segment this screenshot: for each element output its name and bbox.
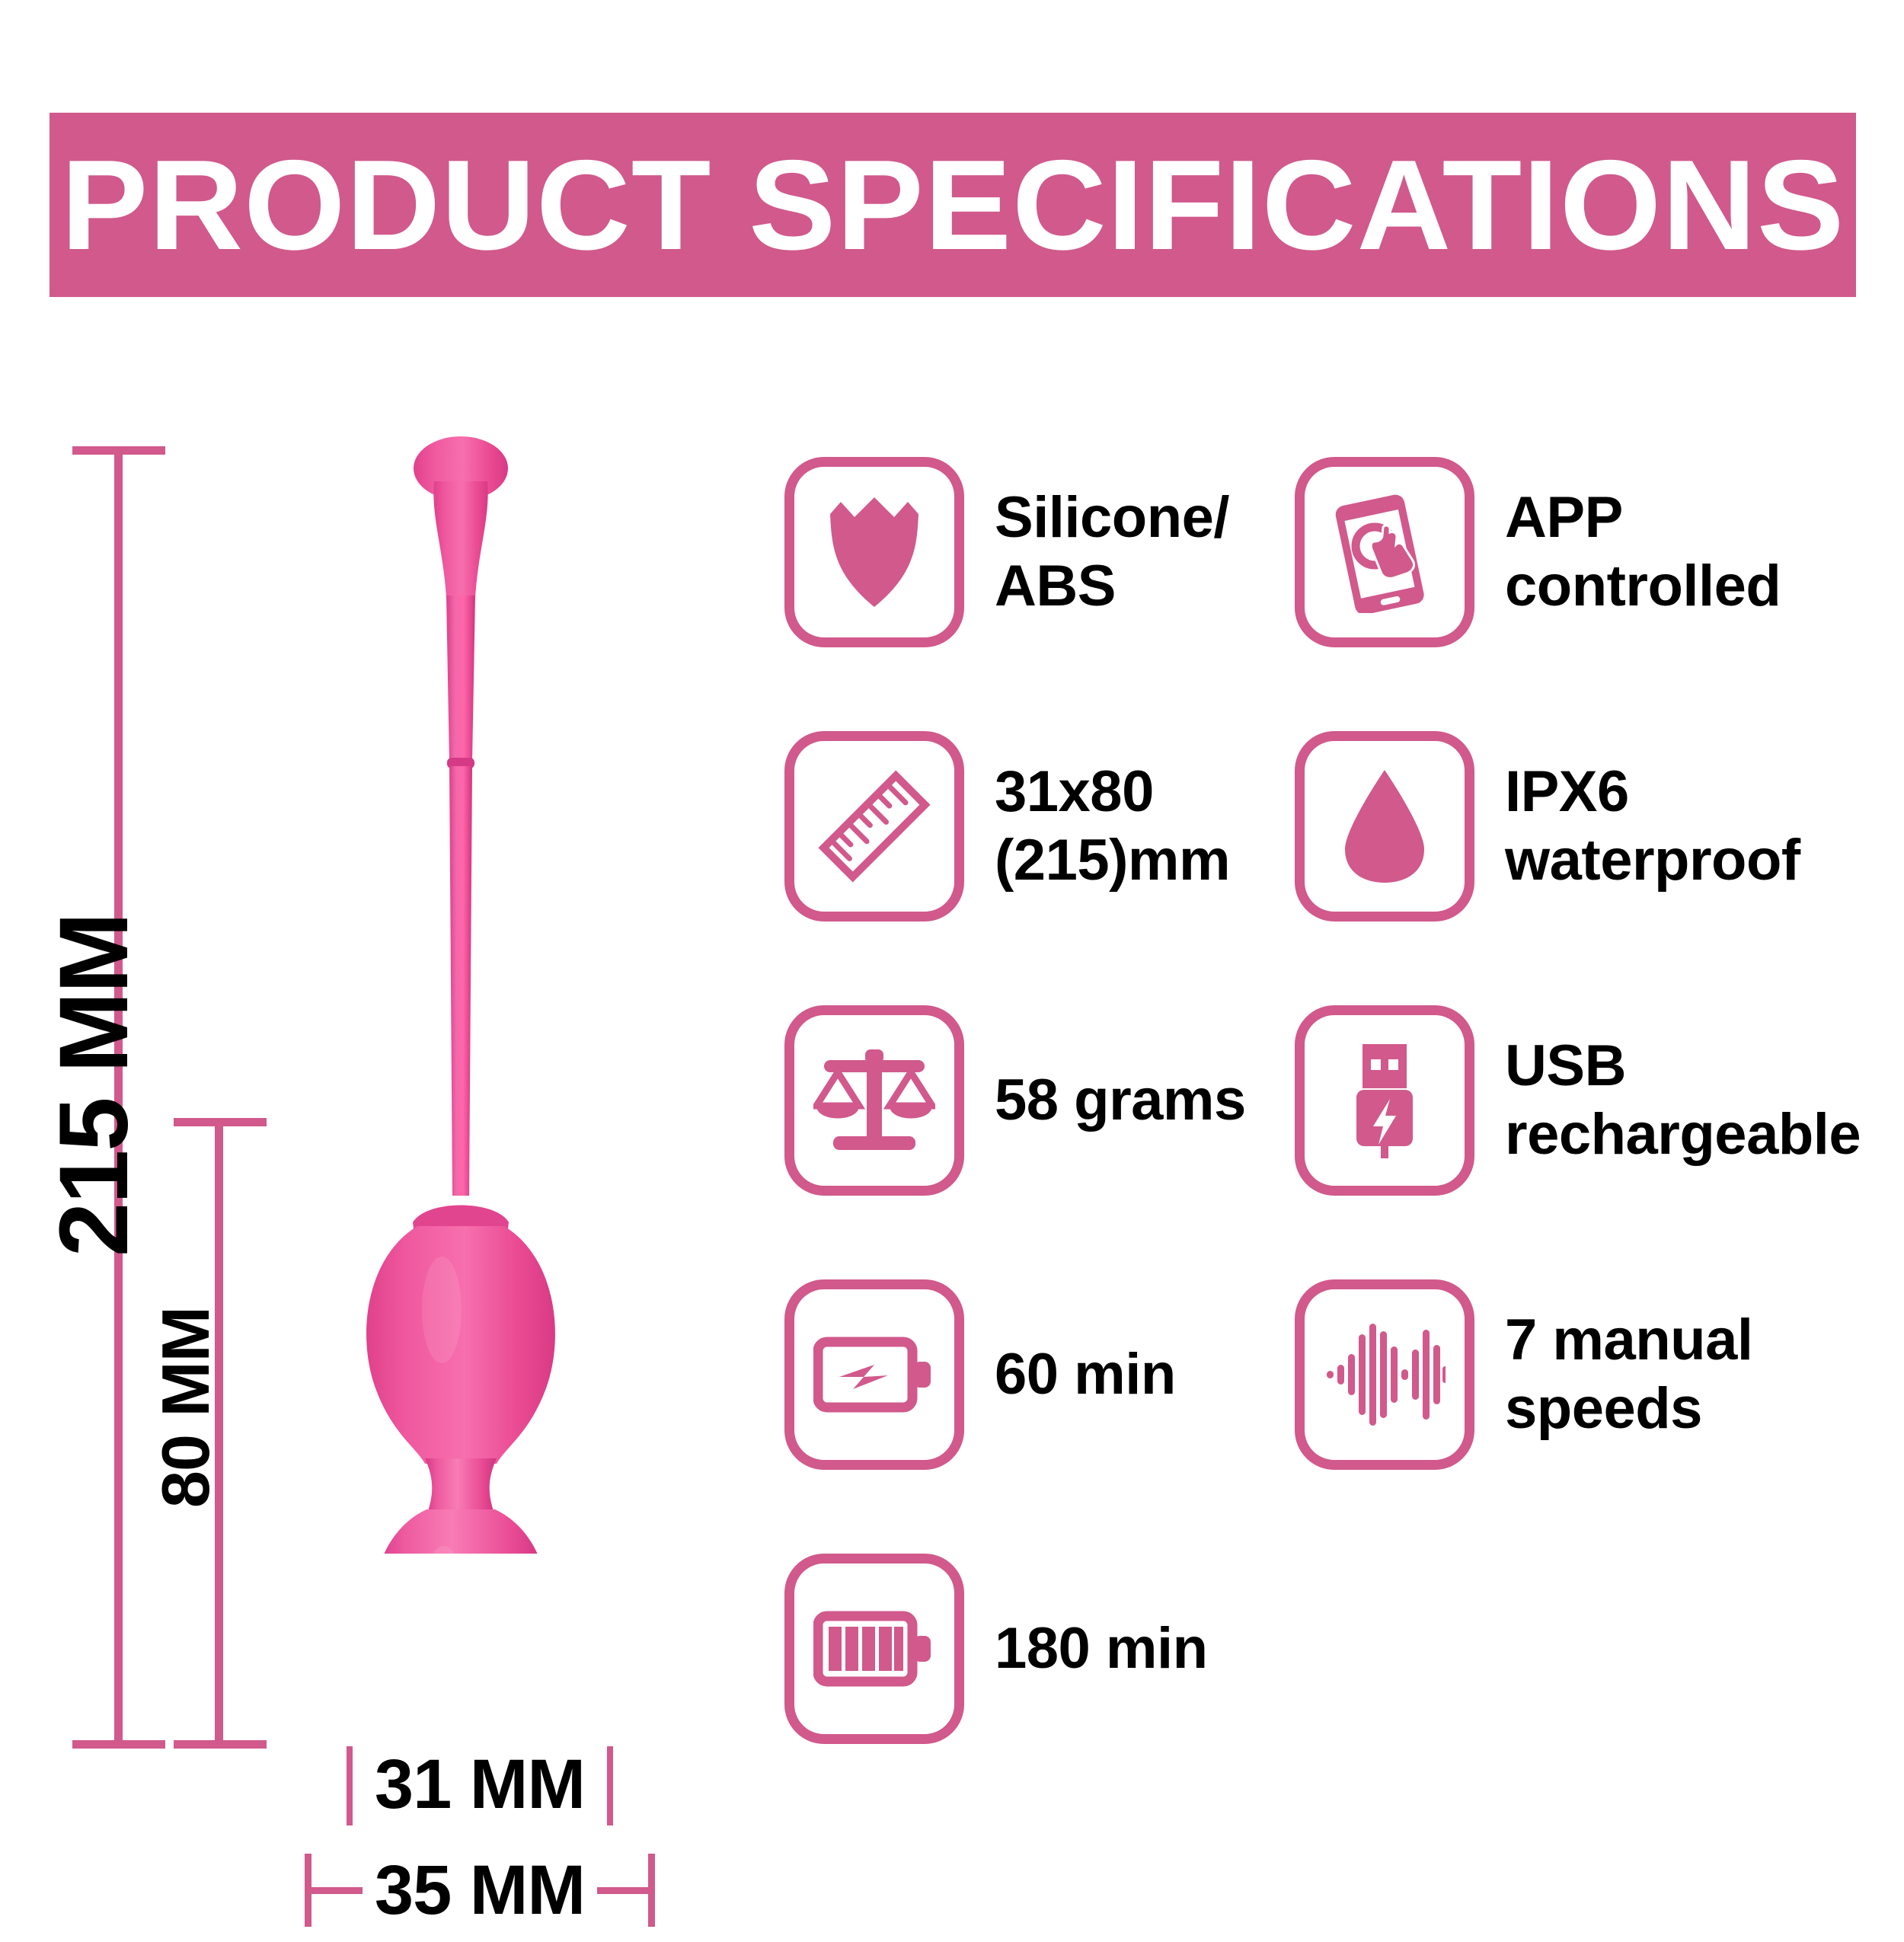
spec-grid: Silicone/ ABS bbox=[784, 457, 1904, 1828]
dimension-31-group: 31 MM bbox=[347, 1740, 613, 1830]
dimension-215-label: 215 MM bbox=[46, 914, 143, 1257]
spec-item-material: Silicone/ ABS bbox=[784, 457, 1287, 647]
dimension-35-label: 35 MM bbox=[305, 1855, 655, 1925]
spec-label-line1: 7 manual bbox=[1505, 1308, 1752, 1372]
smartphone-touch-icon bbox=[1295, 457, 1474, 647]
spec-label-line1: Silicone/ bbox=[995, 485, 1229, 550]
spec-label-size: 31x80 (215)mm bbox=[995, 758, 1230, 894]
spec-label-line1: USB bbox=[1505, 1033, 1626, 1098]
spec-item-runtime: 60 min bbox=[784, 1279, 1287, 1470]
spec-label-line1: 180 min bbox=[995, 1616, 1208, 1681]
spec-item-speeds: 7 manual speeds bbox=[1295, 1279, 1904, 1470]
infographic-canvas: PRODUCT SPECIFICATIONS 215 MM 80 MM 31 M… bbox=[0, 0, 1904, 1904]
spec-label-line2: rechargeable bbox=[1505, 1100, 1861, 1169]
spec-row: 180 min bbox=[784, 1554, 1904, 1828]
battery-full-icon bbox=[784, 1554, 964, 1744]
battery-charging-icon bbox=[784, 1279, 964, 1470]
spec-label-runtime: 60 min bbox=[995, 1340, 1176, 1409]
spec-label-app: APP controlled bbox=[1505, 484, 1781, 620]
usb-plug-icon bbox=[1295, 1005, 1474, 1196]
product-illustration bbox=[327, 434, 594, 1554]
water-drop-icon bbox=[1295, 731, 1474, 921]
ruler-icon bbox=[784, 731, 964, 921]
spec-item-charging: USB rechargeable bbox=[1295, 1005, 1904, 1196]
dimension-31-label: 31 MM bbox=[347, 1749, 613, 1819]
spec-item-charge-time: 180 min bbox=[784, 1554, 1287, 1744]
spec-row: 31x80 (215)mm IPX6 waterproof bbox=[784, 731, 1904, 1005]
sound-wave-icon bbox=[1295, 1279, 1474, 1470]
spec-label-line2: ABS bbox=[995, 552, 1229, 621]
balance-scale-icon bbox=[784, 1005, 964, 1196]
spec-item-weight: 58 grams bbox=[784, 1005, 1287, 1196]
spec-label-line1: 58 grams bbox=[995, 1068, 1246, 1132]
spec-row: 58 grams USB rechargeable bbox=[784, 1005, 1904, 1279]
shield-icon bbox=[784, 457, 964, 647]
spec-row: 60 min bbox=[784, 1279, 1904, 1554]
spec-label-line2: waterproof bbox=[1505, 826, 1800, 895]
spec-label-charging: USB rechargeable bbox=[1505, 1032, 1861, 1168]
dimension-35-group: 35 MM bbox=[305, 1851, 655, 1942]
dimension-80-bottom-cap bbox=[174, 1740, 267, 1749]
spec-label-line1: 60 min bbox=[995, 1342, 1176, 1407]
spec-label-line1: IPX6 bbox=[1505, 759, 1629, 824]
spec-label-material: Silicone/ ABS bbox=[995, 484, 1229, 620]
spec-label-weight: 58 grams bbox=[995, 1066, 1246, 1135]
spec-row: Silicone/ ABS bbox=[784, 457, 1904, 731]
spec-label-waterproof: IPX6 waterproof bbox=[1505, 758, 1800, 894]
spec-label-line1: APP bbox=[1505, 485, 1623, 550]
spec-label-speeds: 7 manual speeds bbox=[1505, 1306, 1752, 1442]
dimension-80-label: 80 MM bbox=[152, 1307, 219, 1508]
dimension-215-bottom-cap bbox=[72, 1740, 165, 1749]
spec-label-line1: 31x80 bbox=[995, 759, 1154, 824]
spec-label-line2: (215)mm bbox=[995, 826, 1230, 895]
spec-item-waterproof: IPX6 waterproof bbox=[1295, 731, 1904, 921]
dimension-panel: 215 MM 80 MM 31 MM 35 MM bbox=[0, 0, 731, 1904]
spec-label-charge-time: 180 min bbox=[995, 1615, 1208, 1683]
spec-item-size: 31x80 (215)mm bbox=[784, 731, 1287, 921]
spec-label-line2: controlled bbox=[1505, 552, 1781, 621]
spec-item-app: APP controlled bbox=[1295, 457, 1904, 647]
spec-label-line2: speeds bbox=[1505, 1375, 1752, 1443]
